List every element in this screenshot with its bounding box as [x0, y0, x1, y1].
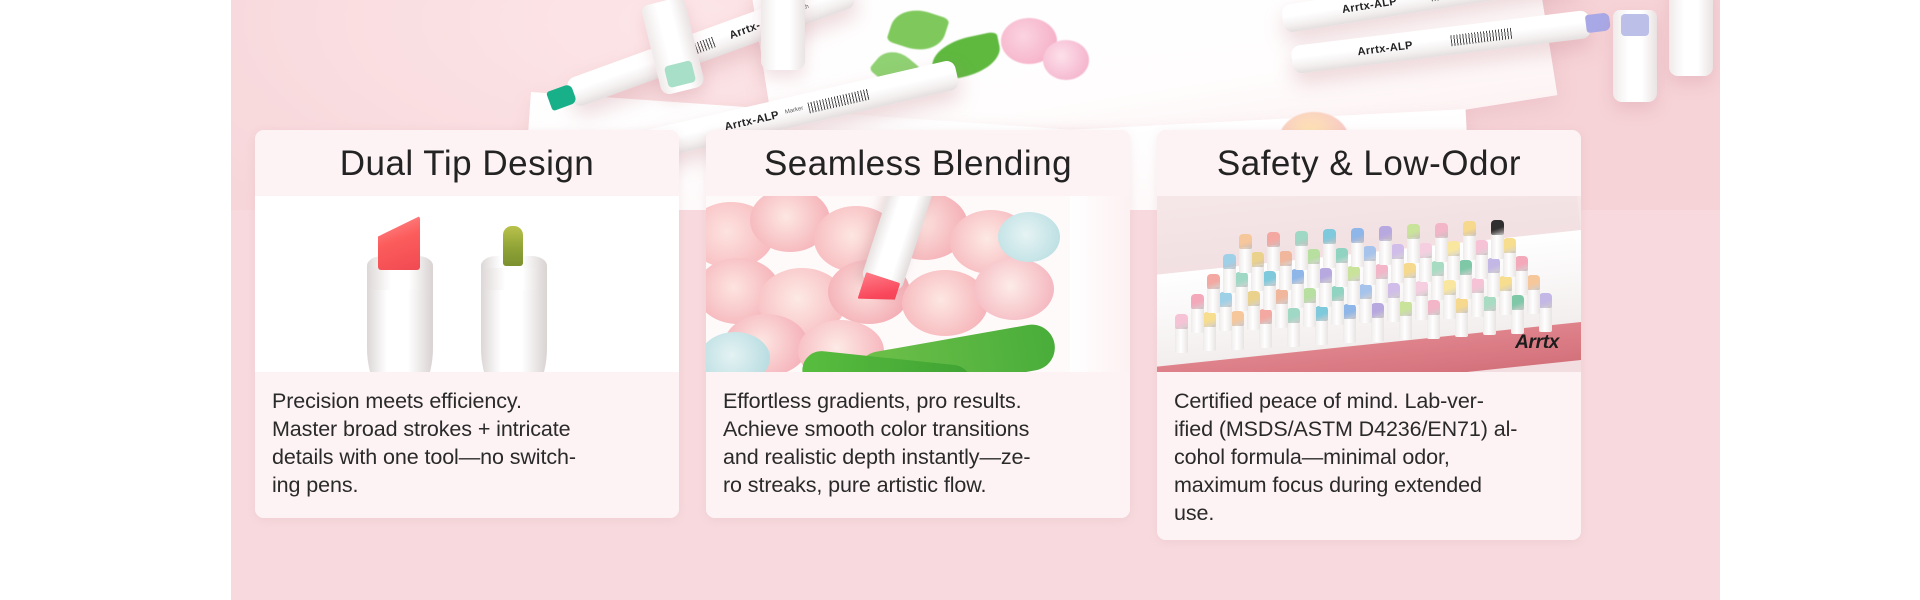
marker-cap-colored: [1323, 229, 1336, 244]
marker-barrel: [1219, 305, 1232, 331]
hydrangea-artwork-photo: [706, 196, 1130, 372]
marker-cap-colored: [1319, 268, 1332, 283]
marker-cap-colored: [1335, 248, 1348, 263]
marker-tip-bullet: [481, 256, 547, 372]
marker-cap-colored: [1515, 256, 1528, 271]
marker-cap-colored: [1331, 286, 1344, 301]
marker-barrel: [1279, 264, 1292, 290]
marker-cap-colored: [1403, 263, 1416, 278]
marker-cap-colored: [1387, 283, 1400, 298]
marker-cap-colored: [1415, 281, 1428, 296]
marker-brand-3: Arrtx-ALP: [1341, 0, 1398, 16]
marker-cap-colored: [1287, 308, 1300, 323]
artwork-paper-edge: [1070, 196, 1130, 372]
marker-barrel: [1207, 287, 1220, 313]
marker-barrel: [1247, 304, 1260, 330]
marker-barrel: [1503, 251, 1516, 277]
marker-cap-colored: [1351, 228, 1364, 243]
marker-cap-colored: [1279, 251, 1292, 266]
marker-barrel: [1427, 313, 1440, 339]
marker-barrel: [1363, 259, 1376, 285]
marker-barrel: [1443, 293, 1456, 319]
marker-barrel: [1399, 314, 1412, 340]
tip-collar-right: [484, 268, 544, 290]
marker-cap-colored: [1491, 220, 1504, 235]
marker-barrel: [1319, 281, 1332, 307]
marker-cap-colored: [1527, 275, 1540, 290]
marker-barrel: [1487, 271, 1500, 297]
marker-barcode-3: [1430, 0, 1493, 1]
card-title-dual-tip-design: Dual Tip Design: [255, 130, 679, 196]
card-body-seamless-blending: Effortless gradients, pro results. Achie…: [706, 372, 1130, 518]
marker-barrel: [1275, 302, 1288, 328]
marker-barrel: [1251, 265, 1264, 291]
marker-cap-colored: [1231, 311, 1244, 326]
marker-tip-chisel: [367, 256, 433, 372]
marker-cap-colored: [1263, 271, 1276, 286]
marker-cap-colored: [1427, 300, 1440, 315]
marker-barcode-2: [807, 89, 870, 114]
marker-cap-colored: [1251, 252, 1264, 267]
marker-barrel: [1511, 308, 1524, 334]
dual-tips-photo: [255, 196, 679, 372]
marker-cap-colored: [1511, 295, 1524, 310]
petal-10: [974, 258, 1054, 320]
marker-cap-colored: [1459, 260, 1472, 275]
marker-barrel: [1447, 254, 1460, 280]
marker-cap-colored: [1375, 264, 1388, 279]
marker-cap-colored: [1499, 276, 1512, 291]
marker-cap-colored: [1219, 292, 1232, 307]
marker-cap-colored: [1419, 243, 1432, 258]
marker-barrel: [1539, 306, 1552, 332]
marker-cap-colored: [1435, 223, 1448, 238]
marker-barrel: [1303, 301, 1316, 327]
marker-cap-colored: [1315, 306, 1328, 321]
marker-cap-colored: [1539, 293, 1552, 308]
marker-cap-colored: [1471, 278, 1484, 293]
marker-barrel: [1343, 317, 1356, 343]
bullet-tip-green: [503, 226, 523, 266]
marker-cap-colored: [1175, 314, 1188, 329]
pink-banner-panel: Arrtx-ALP Sketch Arrtx-ALP Marker Arrtx-…: [231, 0, 1720, 600]
marker-barrel: [1331, 299, 1344, 325]
marker-barrel: [1359, 297, 1372, 323]
marker-barrel: [1347, 279, 1360, 305]
marker-cap-colored: [1363, 246, 1376, 261]
marker-barrel: [1263, 284, 1276, 310]
marker-barrel: [1315, 319, 1328, 345]
marker-cap-colored: [1307, 249, 1320, 264]
marker-cap-colored: [1391, 244, 1404, 259]
marker-cap-colored: [1447, 241, 1460, 256]
marker-barrel: [1455, 311, 1468, 337]
marker-cap-colored: [1247, 291, 1260, 306]
marker-barrel: [1403, 276, 1416, 302]
marker-barrel: [1267, 245, 1280, 271]
tip-collar-left: [370, 268, 430, 290]
marker-barrel: [1223, 267, 1236, 293]
card-title-seamless-blending: Seamless Blending: [706, 130, 1130, 196]
marker-barrel: [1431, 274, 1444, 300]
marker-barrel: [1323, 242, 1336, 268]
blossom-artwork-2: [1043, 40, 1089, 80]
marker-barrel: [1415, 294, 1428, 320]
marker-barrel: [1287, 321, 1300, 347]
feature-card-row: Dual Tip Design: [255, 130, 1581, 540]
marker-barrel: [1527, 288, 1540, 314]
marker-barrel: [1351, 241, 1364, 267]
marker-cap-colored: [1475, 240, 1488, 255]
marker-cap-colored: [1407, 224, 1420, 239]
marker-barrel: [1295, 244, 1308, 270]
marker-barrel: [1235, 285, 1248, 311]
marker-barrel: [1471, 291, 1484, 317]
marker-cap-2: [761, 0, 805, 70]
marker-cap-colored: [1275, 289, 1288, 304]
marker-barrel: [1463, 234, 1476, 260]
marker-barrel: [1435, 236, 1448, 262]
marker-cap-colored: [1295, 231, 1308, 246]
marker-barrel: [1239, 247, 1252, 273]
feature-card-safety-low-odor[interactable]: Safety & Low-Odor Arrtx Certified peace …: [1157, 130, 1581, 540]
marker-barrel: [1515, 269, 1528, 295]
marker-barrel: [1483, 309, 1496, 335]
marker-cap-colored: [1347, 266, 1360, 281]
marker-cap-colored: [1235, 272, 1248, 287]
marker-barcode-4: [1450, 28, 1513, 46]
marker-barrel: [1499, 289, 1512, 315]
feature-card-dual-tip-design[interactable]: Dual Tip Design: [255, 130, 679, 518]
marker-barrel: [1291, 282, 1304, 308]
card-media-marker-case: Arrtx: [1157, 196, 1581, 372]
marker-barrel: [1419, 256, 1432, 282]
marker-cap-colored: [1259, 309, 1272, 324]
marker-barrel: [1307, 262, 1320, 288]
chisel-tip-coral: [378, 216, 420, 270]
marker-cap-colored: [1359, 284, 1372, 299]
product-feature-banner-page: Arrtx-ALP Sketch Arrtx-ALP Marker Arrtx-…: [0, 0, 1920, 600]
marker-cap-colored: [1191, 294, 1204, 309]
card-body-dual-tip-design: Precision meets efficiency. Master broad…: [255, 372, 679, 518]
marker-barrel: [1379, 239, 1392, 265]
marker-cap-4: [1669, 0, 1713, 76]
marker-barrel: [1203, 325, 1216, 351]
marker-cap-colored: [1487, 258, 1500, 273]
marker-cap-colored: [1267, 232, 1280, 247]
marker-barrel: [1175, 327, 1188, 353]
card-title-safety-low-odor: Safety & Low-Odor: [1157, 130, 1581, 196]
marker-cap-colored: [1399, 301, 1412, 316]
petal-14-blue: [998, 212, 1060, 262]
marker-barrel: [1335, 261, 1348, 287]
marker-barrel: [1371, 316, 1384, 342]
marker-cap-colored: [1463, 221, 1476, 236]
marker-cap-colored: [1207, 274, 1220, 289]
marker-cap-colored: [1343, 304, 1356, 319]
marker-cap-colored: [1379, 226, 1392, 241]
marker-cap-3: [1613, 10, 1657, 102]
marker-barrel: [1375, 277, 1388, 303]
marker-barrel: [1259, 322, 1272, 348]
marker-cap-colored: [1203, 312, 1216, 327]
marker-barrel: [1387, 296, 1400, 322]
marker-cap-colored: [1291, 269, 1304, 284]
marker-cap-colored: [1431, 261, 1444, 276]
marker-cap-colored: [1455, 298, 1468, 313]
marker-brand-4: Arrtx-ALP: [1357, 40, 1414, 59]
marker-barrel: [1491, 233, 1504, 259]
marker-cap-colored: [1443, 280, 1456, 295]
marker-barrel: [1475, 253, 1488, 279]
case-brand-label: Arrtx: [1515, 332, 1559, 354]
marker-barrel: [1459, 273, 1472, 299]
marker-barrel: [1407, 237, 1420, 263]
marker-nib-purple-4: [1585, 12, 1611, 33]
marker-cap-colored: [1223, 254, 1236, 269]
card-media-dual-marker-tips: [255, 196, 679, 372]
marker-cap-colored: [1303, 288, 1316, 303]
marker-cap-colored: [1483, 296, 1496, 311]
marker-barrel: [1391, 257, 1404, 283]
marker-cap-colored: [1503, 238, 1516, 253]
card-body-safety-low-odor: Certified peace of mind. Lab-ver- ified …: [1157, 372, 1581, 540]
marker-barrel: [1191, 307, 1204, 333]
card-media-hydrangea-artwork: [706, 196, 1130, 372]
marker-cap-colored: [1371, 303, 1384, 318]
cap-tip-mint: [664, 60, 696, 88]
marker-sub-2: Marker: [784, 106, 804, 118]
marker-cap-colored: [1239, 234, 1252, 249]
cap-tip-lavender: [1621, 14, 1649, 36]
marker-barrel: [1231, 324, 1244, 350]
marker-case-photo: Arrtx: [1157, 196, 1581, 372]
feature-card-seamless-blending[interactable]: Seamless Blending: [706, 130, 1130, 518]
